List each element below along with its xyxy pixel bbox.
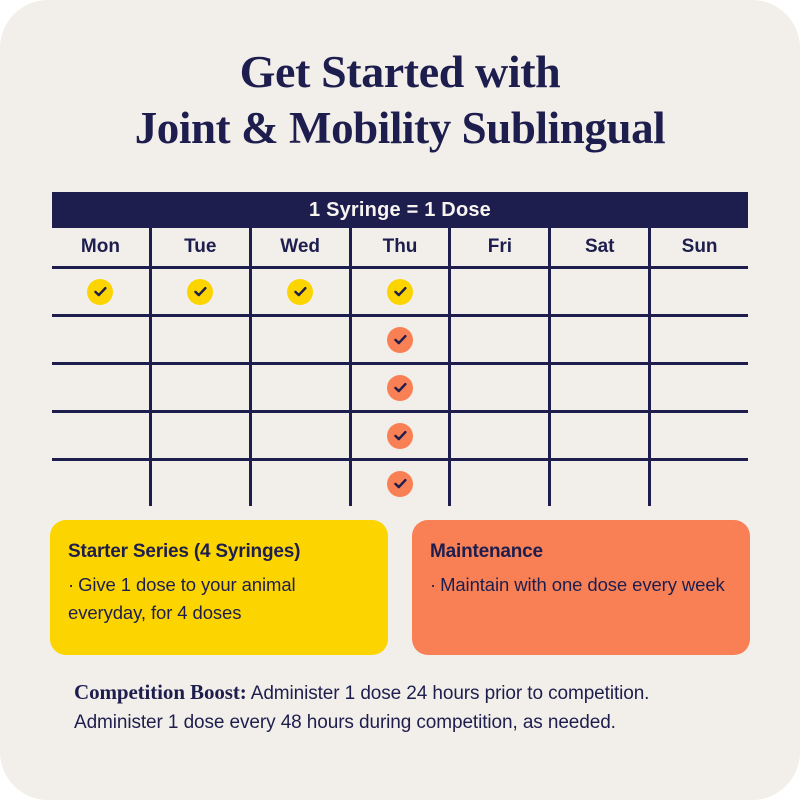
- day-header-wed: Wed: [249, 228, 349, 266]
- cell-sat-row4[interactable]: [548, 413, 648, 458]
- cell-tue-row5[interactable]: [149, 461, 249, 506]
- check-icon: [387, 471, 413, 497]
- competition-boost-note: Competition Boost: Administer 1 dose 24 …: [74, 678, 734, 737]
- cell-sun-row4[interactable]: [648, 413, 748, 458]
- cell-mon-row4[interactable]: [52, 413, 149, 458]
- cell-thu-row3[interactable]: [349, 365, 449, 410]
- table-banner: 1 Syringe = 1 Dose: [52, 192, 748, 228]
- day-header-tue: Tue: [149, 228, 249, 266]
- cell-wed-row3[interactable]: [249, 365, 349, 410]
- cell-sun-row5[interactable]: [648, 461, 748, 506]
- table-row: [52, 317, 748, 365]
- table-row: [52, 413, 748, 461]
- legend-starter-title: Starter Series (4 Syringes): [68, 540, 370, 564]
- cell-sun-row2[interactable]: [648, 317, 748, 362]
- title-line-2: Joint & Mobility Sublingual: [40, 100, 760, 156]
- bullet-icon: ·: [68, 574, 74, 595]
- cell-sat-row2[interactable]: [548, 317, 648, 362]
- day-header-sun: Sun: [648, 228, 748, 266]
- cell-fri-row3[interactable]: [448, 365, 548, 410]
- cell-thu-row5[interactable]: [349, 461, 449, 506]
- check-icon: [387, 279, 413, 305]
- cell-tue-row2[interactable]: [149, 317, 249, 362]
- legend-starter-body: ·Give 1 dose to your animal everyday, fo…: [68, 571, 370, 627]
- cell-mon-row1[interactable]: [52, 269, 149, 314]
- cell-wed-row2[interactable]: [249, 317, 349, 362]
- cell-wed-row1[interactable]: [249, 269, 349, 314]
- page-title: Get Started with Joint & Mobility Sublin…: [40, 44, 760, 156]
- cell-tue-row4[interactable]: [149, 413, 249, 458]
- check-icon: [387, 423, 413, 449]
- dosing-schedule-table: 1 Syringe = 1 Dose MonTueWedThuFriSatSun: [52, 192, 748, 506]
- day-header-sat: Sat: [548, 228, 648, 266]
- bullet-icon: ·: [430, 574, 436, 595]
- legend-maintenance-text: Maintain with one dose every week: [440, 574, 725, 595]
- cell-fri-row1[interactable]: [448, 269, 548, 314]
- check-icon: [387, 327, 413, 353]
- check-icon: [187, 279, 213, 305]
- cell-sat-row1[interactable]: [548, 269, 648, 314]
- legend-card-maintenance: Maintenance ·Maintain with one dose ever…: [412, 520, 750, 655]
- cell-wed-row5[interactable]: [249, 461, 349, 506]
- cell-thu-row4[interactable]: [349, 413, 449, 458]
- check-icon: [387, 375, 413, 401]
- competition-boost-label: Competition Boost:: [74, 680, 247, 704]
- legend-maintenance-title: Maintenance: [430, 540, 732, 564]
- cell-sat-row3[interactable]: [548, 365, 648, 410]
- table-row: [52, 365, 748, 413]
- check-icon: [287, 279, 313, 305]
- cell-fri-row4[interactable]: [448, 413, 548, 458]
- cell-wed-row4[interactable]: [249, 413, 349, 458]
- cell-sat-row5[interactable]: [548, 461, 648, 506]
- cell-sun-row3[interactable]: [648, 365, 748, 410]
- legend-starter-text: Give 1 dose to your animal everyday, for…: [68, 574, 296, 623]
- day-header-thu: Thu: [349, 228, 449, 266]
- cell-tue-row1[interactable]: [149, 269, 249, 314]
- infographic-card: Get Started with Joint & Mobility Sublin…: [0, 0, 800, 800]
- table-row: [52, 461, 748, 506]
- cell-fri-row2[interactable]: [448, 317, 548, 362]
- legend-card-starter-series: Starter Series (4 Syringes) ·Give 1 dose…: [50, 520, 388, 655]
- legend-maintenance-body: ·Maintain with one dose every week: [430, 571, 732, 599]
- cell-mon-row2[interactable]: [52, 317, 149, 362]
- table-body: [52, 269, 748, 506]
- cell-thu-row1[interactable]: [349, 269, 449, 314]
- check-icon: [87, 279, 113, 305]
- cell-tue-row3[interactable]: [149, 365, 249, 410]
- day-header-fri: Fri: [448, 228, 548, 266]
- title-line-1: Get Started with: [40, 44, 760, 100]
- cell-sun-row1[interactable]: [648, 269, 748, 314]
- day-header-mon: Mon: [52, 228, 149, 266]
- table-row: [52, 269, 748, 317]
- cell-mon-row5[interactable]: [52, 461, 149, 506]
- cell-fri-row5[interactable]: [448, 461, 548, 506]
- cell-mon-row3[interactable]: [52, 365, 149, 410]
- cell-thu-row2[interactable]: [349, 317, 449, 362]
- table-header-row: MonTueWedThuFriSatSun: [52, 228, 748, 269]
